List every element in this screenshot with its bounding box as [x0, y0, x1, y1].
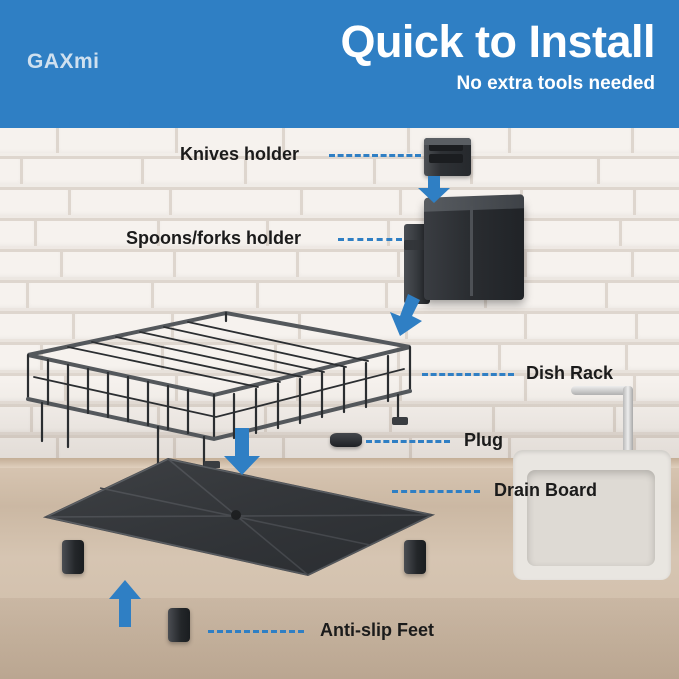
- leader-line-spoons-forks-holder: [338, 238, 402, 241]
- callout-label-drain-board: Drain Board: [494, 480, 597, 501]
- anti-slip-foot-part: [168, 608, 190, 642]
- leader-line-drain-board: [392, 490, 480, 493]
- anti-slip-foot-part: [404, 540, 426, 574]
- assembly-arrow-spoon-holder: [382, 294, 430, 338]
- leader-line-knives-holder: [329, 154, 421, 157]
- drain-plug-part: [330, 433, 362, 447]
- assembly-arrow-drain-board: [222, 428, 262, 476]
- product-scene: Knives holder Spoons/forks holder Dish R…: [0, 128, 679, 679]
- leader-line-anti-slip-feet: [208, 630, 304, 633]
- callout-label-dish-rack: Dish Rack: [526, 363, 613, 384]
- callout-label-plug: Plug: [464, 430, 503, 451]
- page-title: Quick to Install: [340, 16, 655, 68]
- spoon-fork-holder-divider: [470, 206, 473, 296]
- callout-label-anti-slip-feet: Anti-slip Feet: [320, 620, 434, 641]
- page-subtitle: No extra tools needed: [457, 73, 656, 95]
- leader-line-plug: [366, 440, 450, 443]
- anti-slip-foot-part: [62, 540, 84, 574]
- callout-label-spoons-forks-holder: Spoons/forks holder: [126, 228, 301, 249]
- assembly-arrow-knife-holder: [416, 176, 456, 204]
- product-infographic: GAXmi Quick to Install No extra tools ne…: [0, 0, 679, 679]
- knife-holder-part: [424, 138, 471, 176]
- dish-rack-part: [8, 303, 428, 463]
- callout-label-knives-holder: Knives holder: [180, 144, 299, 165]
- spoon-fork-holder-part: [424, 200, 524, 300]
- brand-logo: GAXmi: [27, 50, 100, 74]
- leader-line-dish-rack: [422, 373, 514, 376]
- assembly-arrow-feet: [108, 580, 142, 628]
